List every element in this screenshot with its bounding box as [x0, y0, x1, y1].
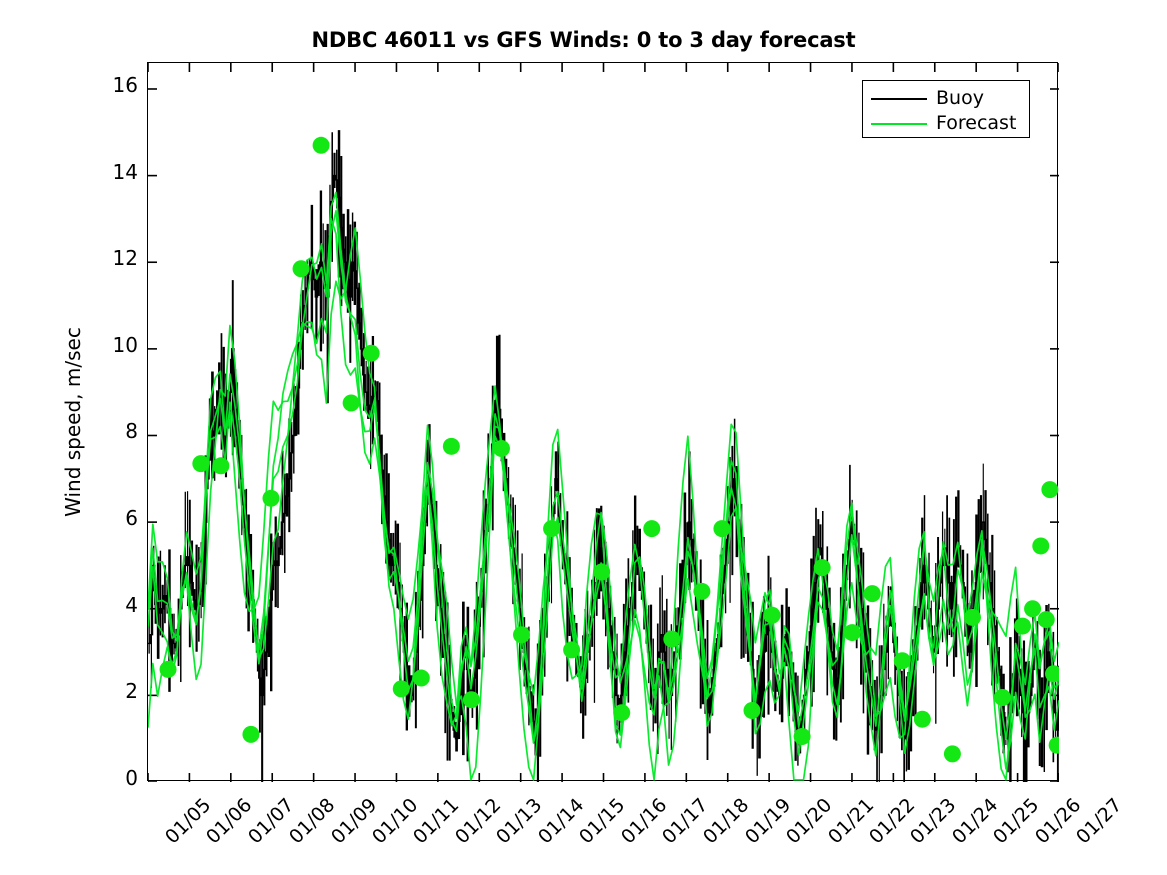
y-tick-label: 6 [90, 508, 138, 528]
x-axis-tick-labels: 01/0501/0601/0701/0801/0901/1001/1101/12… [147, 790, 1058, 875]
x-tick-label: 01/27 [1072, 794, 1126, 848]
x-tick-label: 01/06 [202, 794, 256, 848]
legend-label-forecast: Forecast [936, 114, 1016, 133]
legend-entry-forecast: Forecast [871, 111, 1021, 136]
legend-label-buoy: Buoy [936, 89, 984, 108]
legend-swatch-buoy [871, 98, 927, 100]
y-tick-label: 0 [90, 768, 138, 788]
legend-entry-buoy: Buoy [871, 86, 1021, 111]
y-tick-label: 4 [90, 595, 138, 615]
series-buoy [148, 130, 1059, 782]
y-tick-label: 14 [90, 162, 138, 182]
x-tick-label: 01/24 [948, 794, 1002, 848]
x-tick-label: 01/05 [161, 794, 215, 848]
x-tick-label: 01/14 [534, 794, 588, 848]
x-tick-label: 01/20 [782, 794, 836, 848]
x-tick-label: 01/09 [327, 794, 381, 848]
y-tick-label: 8 [90, 421, 138, 441]
y-axis-tick-labels: 0246810121416 [76, 0, 138, 875]
x-tick-label: 01/25 [989, 794, 1043, 848]
y-tick-label: 16 [90, 75, 138, 95]
x-tick-label: 01/17 [658, 794, 712, 848]
x-tick-label: 01/10 [368, 794, 422, 848]
x-tick-label: 01/07 [244, 794, 298, 848]
x-tick-label: 01/18 [699, 794, 753, 848]
y-tick-label: 2 [90, 681, 138, 701]
y-tick-label: 10 [90, 335, 138, 355]
x-tick-label: 01/19 [741, 794, 795, 848]
x-tick-label: 01/26 [1031, 794, 1085, 848]
x-tick-label: 01/12 [451, 794, 505, 848]
plot-series-svg [148, 63, 1059, 782]
plot-area [147, 62, 1058, 781]
chart-title: NDBC 46011 vs GFS Winds: 0 to 3 day fore… [0, 28, 1167, 52]
figure-canvas: NDBC 46011 vs GFS Winds: 0 to 3 day fore… [0, 0, 1167, 875]
x-tick-label: 01/16 [617, 794, 671, 848]
axis-tick-marks [148, 63, 1059, 782]
legend: Buoy Forecast [862, 80, 1030, 138]
x-tick-label: 01/08 [285, 794, 339, 848]
x-tick-label: 01/22 [865, 794, 919, 848]
x-tick-label: 01/15 [575, 794, 629, 848]
x-tick-label: 01/11 [409, 794, 463, 848]
legend-swatch-forecast [871, 123, 927, 125]
y-tick-label: 12 [90, 248, 138, 268]
x-tick-label: 01/23 [906, 794, 960, 848]
x-tick-label: 01/13 [492, 794, 546, 848]
x-tick-label: 01/21 [824, 794, 878, 848]
